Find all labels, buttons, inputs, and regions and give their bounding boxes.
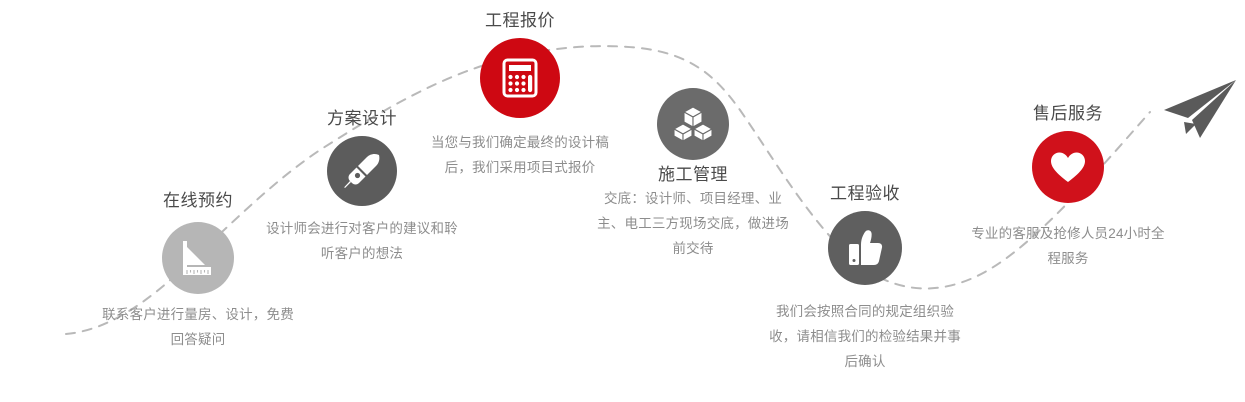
flow-step-5[interactable]: 工程验收 我们会按照合同的规定组织验收，请相信我们的检验结果并事后确认 bbox=[765, 183, 965, 374]
step-2-icon-circle bbox=[327, 136, 397, 206]
thumbs-up-icon bbox=[844, 227, 886, 269]
flow-step-3[interactable]: 工程报价 bbox=[420, 10, 620, 180]
step-3-icon-wrap bbox=[420, 38, 620, 118]
step-1-description: 联系客户进行量房、设计，免费回答疑问 bbox=[98, 302, 298, 352]
step-4-icon-circle bbox=[657, 88, 729, 160]
step-3-title: 工程报价 bbox=[420, 10, 620, 32]
step-6-icon-circle bbox=[1032, 131, 1104, 203]
process-flow-diagram: 在线预约 bbox=[0, 0, 1245, 402]
step-5-title: 工程验收 bbox=[765, 183, 965, 205]
cubes-icon bbox=[672, 103, 714, 145]
step-6-description: 专业的客服及抢修人员24小时全程服务 bbox=[968, 221, 1168, 271]
fountain-pen-nib-icon bbox=[341, 150, 383, 192]
step-4-icon-wrap bbox=[593, 88, 793, 160]
step-6-title: 售后服务 bbox=[968, 103, 1168, 125]
step-5-icon-circle bbox=[828, 211, 902, 285]
step-3-icon-circle bbox=[480, 38, 560, 118]
step-1-icon-circle bbox=[162, 222, 234, 294]
flow-step-4[interactable]: 施工管理 交底：设计师、项目经理、业主、电工三方现场交底，做进场前交待 bbox=[593, 88, 793, 261]
heart-icon bbox=[1048, 147, 1088, 187]
calculator-icon bbox=[498, 56, 542, 100]
step-4-title: 施工管理 bbox=[593, 164, 793, 186]
step-5-description: 我们会按照合同的规定组织验收，请相信我们的检验结果并事后确认 bbox=[765, 299, 965, 374]
ruler-triangle-icon bbox=[177, 237, 219, 279]
step-5-icon-wrap bbox=[765, 211, 965, 285]
step-4-description: 交底：设计师、项目经理、业主、电工三方现场交底，做进场前交待 bbox=[593, 186, 793, 261]
step-2-description: 设计师会进行对客户的建议和聆听客户的想法 bbox=[262, 216, 462, 266]
step-6-icon-wrap bbox=[968, 131, 1168, 203]
flow-step-6[interactable]: 售后服务 专业的客服及抢修人员24小时全程服务 bbox=[968, 103, 1168, 271]
step-3-description: 当您与我们确定最终的设计稿后，我们采用项目式报价 bbox=[420, 130, 620, 180]
